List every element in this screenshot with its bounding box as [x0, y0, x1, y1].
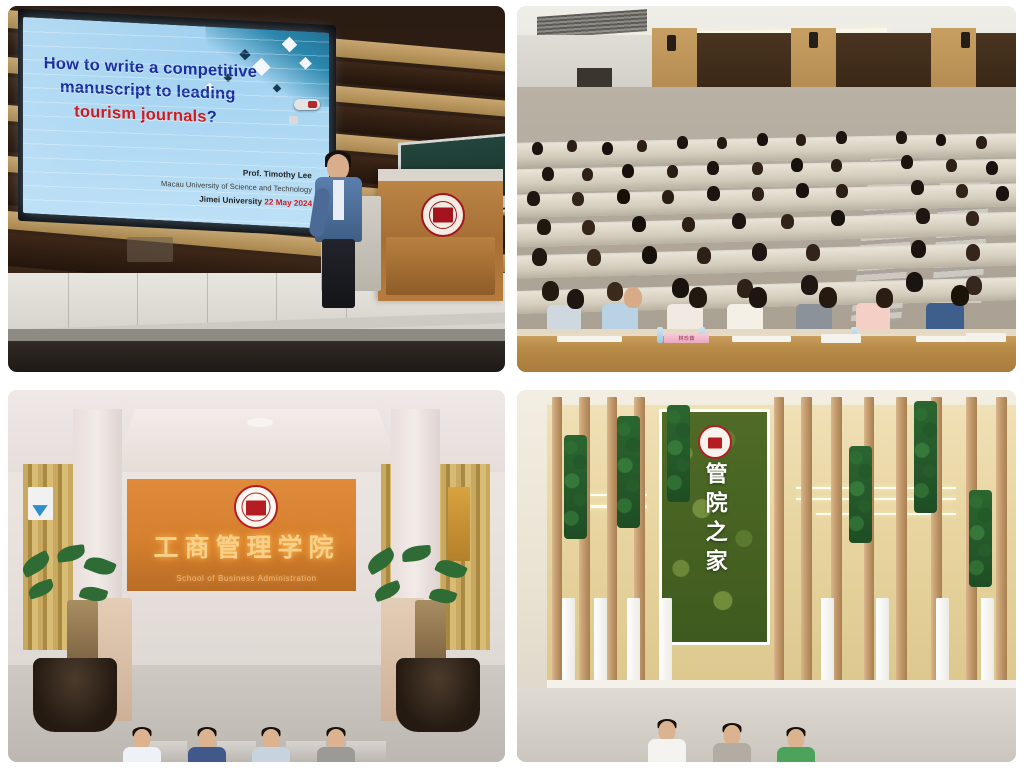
wall-access-panel	[127, 237, 173, 262]
plant-leaf	[27, 578, 56, 599]
audience-member	[796, 183, 809, 198]
plant-leaf	[83, 553, 117, 579]
wood-slat	[801, 397, 811, 709]
front-row-person-head	[951, 285, 969, 306]
moss-wall-text: 管院之家	[699, 462, 731, 578]
photo-audience[interactable]: 林珍茹	[517, 6, 1016, 372]
ceiling-speaker-icon	[961, 32, 970, 48]
audience-member	[602, 142, 613, 155]
wall-sensor-icon	[294, 99, 320, 110]
person-blazer	[713, 743, 751, 762]
audience-member	[781, 214, 794, 229]
name-placard-text: 林珍茹	[664, 334, 709, 343]
lobby-scene: 工商管理学院 School of Business Administration	[8, 390, 505, 762]
audience-member	[752, 243, 767, 261]
stage-edge	[8, 329, 505, 341]
speaker-shirt	[333, 180, 345, 220]
audience-member	[831, 159, 842, 172]
audience-member	[901, 155, 913, 169]
moss-wall-scene: 管院之家	[517, 390, 1016, 762]
photo-collage: How to write a competitive manuscript to…	[0, 0, 1024, 768]
school-name-chinese: 工商管理学院	[137, 528, 356, 564]
slide-title-highlight: tourism journals	[74, 103, 207, 127]
front-row-person-head	[689, 287, 707, 308]
photo-lecture-slide[interactable]: How to write a competitive manuscript to…	[8, 6, 505, 372]
plant-trunk	[415, 600, 446, 665]
plant-leaf	[401, 545, 431, 562]
audience-member	[632, 216, 646, 232]
audience-member	[752, 162, 763, 175]
audience-member	[717, 137, 727, 149]
university-seal-icon	[421, 193, 465, 237]
audience-member	[911, 240, 926, 258]
audience-member	[732, 213, 746, 229]
audience-member	[642, 246, 657, 264]
audience-member	[836, 131, 847, 144]
name-placard-blank	[821, 334, 861, 343]
audience-member	[911, 180, 924, 195]
university-seal-icon	[698, 425, 732, 459]
plant-leaf	[19, 550, 53, 578]
audience-member	[757, 133, 768, 146]
slide-host: Jimei University	[199, 194, 262, 206]
auditorium-scene: How to write a competitive manuscript to…	[8, 6, 505, 372]
audience-member	[617, 189, 630, 204]
person-head	[723, 725, 740, 745]
audience-member	[667, 165, 678, 178]
front-row-person-head	[624, 287, 642, 308]
hanging-foliage-panel	[914, 401, 937, 513]
audience-member	[976, 136, 987, 149]
audience-member	[542, 167, 554, 181]
planter-pot-right	[396, 658, 480, 732]
audience-member	[532, 142, 543, 155]
hanging-foliage-panel	[564, 435, 587, 539]
audience-member	[752, 187, 764, 201]
audience-member	[707, 186, 720, 201]
wall-sensor-box-icon	[289, 116, 298, 124]
lectern-podium	[378, 169, 502, 301]
audience-member	[986, 161, 998, 175]
audience-member	[637, 140, 647, 152]
person-blazer	[317, 747, 355, 762]
plant-leaf	[434, 555, 468, 582]
audience-member	[532, 248, 547, 266]
floor-tile-line	[68, 273, 69, 332]
wood-slat	[896, 397, 906, 709]
front-row-person-head	[819, 287, 837, 308]
front-row-person-head	[567, 289, 584, 309]
planter-pot-left	[33, 658, 117, 732]
wood-slat	[996, 397, 1006, 709]
audience-member	[697, 247, 711, 264]
audience-member	[542, 281, 559, 301]
hanging-foliage-panel	[667, 405, 690, 502]
hanging-foliage-panel	[617, 416, 640, 528]
foreground-floor	[8, 341, 505, 372]
podium-top-surface	[378, 169, 502, 181]
audience-member	[946, 159, 957, 172]
desk-paper	[732, 336, 792, 342]
audience-member	[801, 275, 818, 295]
wall-banner-left	[28, 487, 53, 520]
audience-member	[831, 210, 845, 226]
slide-byline: Prof. Timothy Lee Macau University of Sc…	[161, 163, 312, 211]
name-placard-blank	[966, 333, 1006, 342]
audience-member	[582, 168, 593, 181]
polished-floor	[517, 688, 1016, 762]
audience-member	[906, 272, 923, 292]
hanging-foliage-panel	[849, 446, 872, 543]
plant-leaf	[364, 547, 398, 576]
name-placard: 林珍茹	[664, 334, 709, 343]
wood-slat	[607, 397, 617, 709]
ceiling-dome-light-icon	[247, 418, 273, 427]
audience-member	[582, 220, 595, 235]
podium-front-panel	[386, 237, 495, 295]
audience-member	[677, 136, 688, 149]
audience-member	[537, 219, 551, 235]
audience-member	[806, 244, 820, 261]
audience-member	[896, 131, 907, 144]
person-head	[328, 729, 345, 749]
audience-member	[836, 184, 848, 198]
plant-leaf	[56, 544, 86, 563]
person-head	[658, 721, 675, 741]
plant-trunk	[67, 600, 98, 665]
plant-leaf	[372, 580, 402, 602]
person-head	[198, 729, 215, 749]
university-seal-icon	[234, 485, 278, 529]
audience-member	[662, 190, 674, 204]
desk-paper	[557, 336, 622, 342]
slide-title-question-mark: ?	[207, 108, 217, 126]
audience-member	[996, 186, 1009, 201]
wood-slat	[774, 397, 784, 709]
audience-member	[572, 192, 584, 206]
audience-member	[916, 208, 930, 224]
speaker-trousers	[322, 239, 356, 308]
speaker-figure	[314, 154, 364, 308]
person-suit-jacket	[188, 747, 226, 762]
tiered-seating-block: 林珍茹	[517, 87, 1016, 372]
wood-slat	[552, 397, 562, 709]
potted-plant-left	[18, 546, 147, 665]
ceiling-speaker-icon	[667, 35, 676, 51]
audience-member	[607, 282, 623, 301]
person-blouse	[777, 747, 815, 762]
hanging-foliage-panel	[969, 490, 992, 587]
person-blouse	[648, 739, 686, 762]
potted-plant-right	[366, 546, 495, 665]
audience-member	[966, 211, 979, 226]
slide-title: How to write a competitive manuscript to…	[44, 53, 265, 133]
projection-screen: How to write a competitive manuscript to…	[23, 17, 329, 229]
water-bottle-icon	[657, 327, 663, 343]
front-row-person-head	[749, 287, 767, 308]
audience-member	[587, 249, 601, 266]
audience-member	[672, 278, 689, 298]
audience-member	[966, 244, 980, 261]
ceiling-speaker-icon	[809, 32, 818, 48]
audience-member	[527, 191, 540, 206]
lecture-hall-scene: 林珍茹	[517, 6, 1016, 372]
audience-member	[567, 140, 577, 152]
person-head	[263, 729, 280, 749]
audience-member	[682, 217, 695, 232]
wood-slat	[864, 397, 874, 709]
audience-member	[622, 164, 634, 178]
person-shirt	[123, 747, 161, 762]
slide-date: 22 May 2024	[264, 197, 312, 208]
audience-member	[956, 184, 968, 198]
person-head	[788, 729, 805, 749]
person-shirt	[252, 747, 290, 762]
floor-tile-line	[137, 273, 138, 332]
front-row-person-head	[876, 288, 893, 308]
school-name-english: School of Business Administration	[127, 574, 366, 583]
audience-member	[791, 158, 803, 172]
photo-group-three[interactable]: 管院之家	[517, 390, 1016, 762]
person-head	[134, 729, 151, 749]
audience-member	[707, 161, 719, 175]
photo-group-four[interactable]: 工商管理学院 School of Business Administration	[8, 390, 505, 762]
